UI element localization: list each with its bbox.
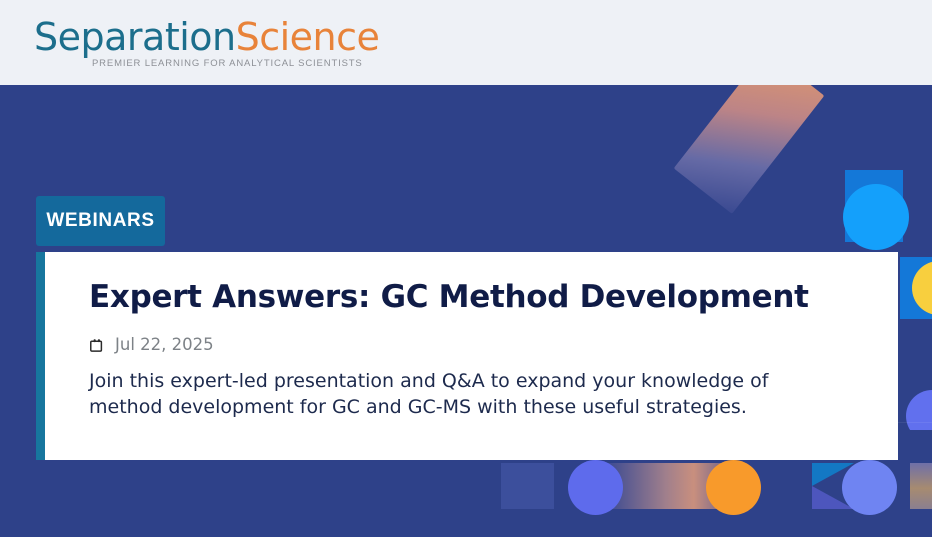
webinar-date: Jul 22, 2025	[115, 336, 214, 354]
card-body: Expert Answers: GC Method Development Ju…	[45, 252, 898, 460]
gradient-diagonal-shape	[674, 85, 825, 214]
blue-square-middle	[900, 257, 932, 319]
site-logo[interactable]: SeparationScience PREMIER LEARNING FOR A…	[34, 17, 334, 69]
cyan-circle-icon	[843, 184, 909, 250]
logo-tagline: PREMIER LEARNING FOR ANALYTICAL SCIENTIS…	[92, 58, 334, 69]
webinars-badge-label: WEBINARS	[46, 210, 154, 232]
logo-text-science: Science	[236, 15, 380, 59]
card-accent-bar	[36, 252, 45, 460]
logo-wordmark: SeparationScience	[34, 17, 334, 57]
blue-square-top	[845, 170, 903, 242]
webinar-description: Join this expert-led presentation and Q&…	[89, 368, 801, 420]
webinar-title: Expert Answers: GC Method Development	[89, 278, 868, 316]
calendar-icon	[89, 337, 106, 354]
webinar-card[interactable]: Expert Answers: GC Method Development Ju…	[36, 252, 898, 460]
webinar-date-row: Jul 22, 2025	[89, 336, 868, 354]
logo-text-separation: Separation	[34, 15, 236, 59]
webinars-badge[interactable]: WEBINARS	[36, 196, 165, 246]
yellow-circle-icon	[912, 261, 932, 315]
site-header: SeparationScience PREMIER LEARNING FOR A…	[0, 0, 932, 85]
webinar-promo-page: SeparationScience PREMIER LEARNING FOR A…	[0, 0, 932, 537]
hero-section: WEBINARS Expert Answers: GC Method Devel…	[0, 85, 932, 537]
